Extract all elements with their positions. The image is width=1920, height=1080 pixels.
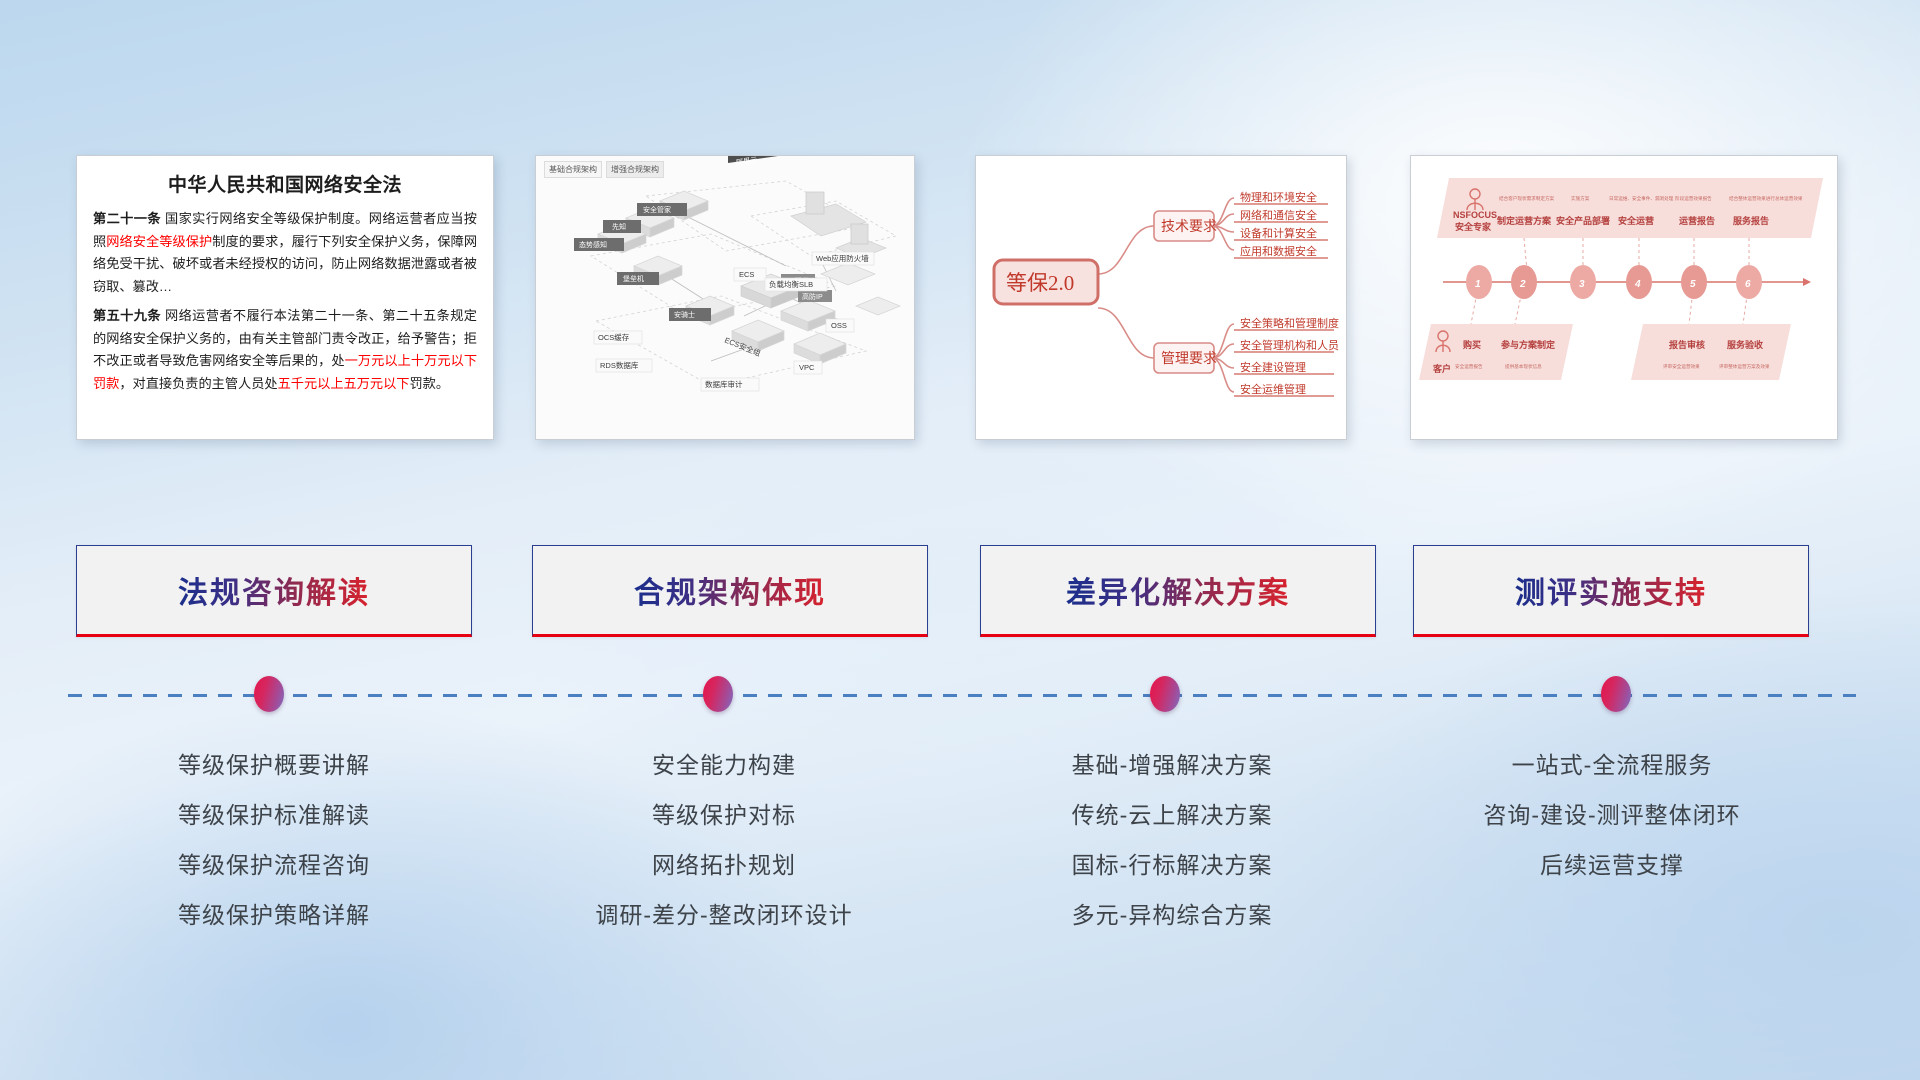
step-num-5: 5: [1690, 279, 1696, 290]
timeline-marker-2[interactable]: [703, 676, 733, 712]
bottom-title-4: 服务验收: [1727, 339, 1763, 350]
bottom-sub-1: 安全运营报告: [1455, 363, 1483, 370]
mindmap-leaf-construction: 安全建设管理: [1240, 360, 1306, 374]
step-num-3: 3: [1579, 279, 1585, 290]
list-item: 调研-差分-整改闭环设计: [504, 890, 944, 940]
article-21-label: 第二十一条: [93, 211, 161, 226]
card-compliance-architecture[interactable]: 基础合规架构 增强合规架构: [535, 155, 915, 440]
timeline-arrow: [1803, 278, 1811, 286]
timeline-marker-1[interactable]: [254, 676, 284, 712]
section-items-3: 基础-增强解决方案 传统-云上解决方案 国标-行标解决方案 多元-异构综合方案: [952, 740, 1392, 940]
step-title-2: 制定运营方案: [1497, 215, 1552, 226]
list-item: 国标-行标解决方案: [952, 840, 1392, 890]
step-title-4: 安全运营: [1618, 215, 1654, 226]
list-item: 等级保护概要讲解: [54, 740, 494, 790]
article-59-text-3: 罚款。: [410, 376, 450, 391]
arch-node-rds: RDS数据库: [600, 360, 639, 370]
arch-node-ecs: ECS: [739, 270, 754, 279]
section-title-box-2[interactable]: 合规架构体现: [532, 545, 928, 637]
section-title-label-1: 法规咨询解读: [178, 568, 370, 612]
section-items-4: 一站式-全流程服务 咨询-建设-测评整体闭环 后续运营支撑: [1392, 740, 1832, 890]
bottom-sub-4: 评审整体运营方案及效果: [1719, 363, 1770, 370]
timeline-marker-3[interactable]: [1150, 676, 1180, 712]
list-item: 等级保护策略详解: [54, 890, 494, 940]
step-sub-6: 结合整体运营效果进行总体运营效果: [1729, 195, 1803, 202]
mindmap-leaf-physical: 物理和环境安全: [1240, 190, 1317, 204]
list-item: 网络拓扑规划: [504, 840, 944, 890]
bottom-title-2: 参与方案制定: [1501, 339, 1556, 350]
list-item: 传统-云上解决方案: [952, 790, 1392, 840]
timeline-top-banner: [1437, 178, 1823, 238]
section-title-box-1[interactable]: 法规咨询解读: [76, 545, 472, 637]
step-title-3: 安全产品部署: [1556, 215, 1610, 226]
timeline-marker-4[interactable]: [1601, 676, 1631, 712]
mindmap-diagram: 等保2.0 技术要求 管理要求 物理和环境安全 网络和通信安全 设备和计算安全 …: [976, 156, 1346, 439]
mindmap-leaf-application: 应用和数据安全: [1240, 244, 1317, 258]
mindmap-leaf-network: 网络和通信安全: [1240, 208, 1317, 222]
step-title-6: 服务报告: [1733, 215, 1769, 226]
timeline-dashed-axis: [68, 694, 1856, 697]
expert-label-line1: NSFOCUS: [1453, 210, 1497, 220]
timeline-bottom-banner-right: [1631, 324, 1791, 380]
mindmap-branch-tech-label: 技术要求: [1161, 219, 1217, 235]
arch-node-db-audit: 数据库审计: [705, 379, 743, 389]
section-items-row: 等级保护概要讲解 等级保护标准解读 等级保护流程咨询 等级保护策略详解 安全能力…: [0, 740, 1920, 960]
step-num-6: 6: [1745, 279, 1751, 290]
step-title-5: 运营报告: [1679, 215, 1715, 226]
expert-label-line2: 安全专家: [1455, 221, 1492, 232]
arch-node-waf: Web应用防火墙: [816, 253, 869, 263]
article-59-highlight-2: 五千元以上五万元以下: [278, 376, 410, 391]
list-item: 多元-异构综合方案: [952, 890, 1392, 940]
step-sub-5: 阶段运营效果报告: [1675, 195, 1712, 202]
list-item: 一站式-全流程服务: [1392, 740, 1832, 790]
arch-node-oss: OSS: [831, 321, 847, 330]
section-items-2: 安全能力构建 等级保护对标 网络拓扑规划 调研-差分-整改闭环设计: [504, 740, 944, 940]
arch-node-gaofang-ip: 高防IP: [802, 292, 823, 301]
arch-node-situation-awareness: 态势感知: [579, 240, 607, 249]
list-item: 安全能力构建: [504, 740, 944, 790]
list-item: 后续运营支撑: [1392, 840, 1832, 890]
section-title-row: 法规咨询解读 合规架构体现 差异化解决方案 测评实施支持: [0, 545, 1920, 645]
timeline-svg: 1 2 3 4 5 6 NSFOCUS 安全专家 制定运营方案 安全产品部署 安…: [1411, 156, 1838, 440]
customer-label: 客户: [1432, 363, 1451, 374]
mindmap-leaf-operations: 安全运维管理: [1240, 382, 1306, 396]
step-sub-4: 日常运维、安全事件、漏洞处理: [1609, 195, 1674, 202]
list-item: 等级保护对标: [504, 790, 944, 840]
mindmap-svg: 等保2.0 技术要求 管理要求 物理和环境安全 网络和通信安全 设备和计算安全 …: [976, 156, 1347, 440]
step-num-1: 1: [1475, 279, 1481, 290]
mindmap-leaf-policy: 安全策略和管理制度: [1240, 316, 1339, 330]
arch-node-vpc: VPC: [799, 363, 815, 372]
section-title-box-4[interactable]: 测评实施支持: [1413, 545, 1809, 637]
bottom-title-3: 报告审核: [1669, 339, 1705, 350]
section-title-label-3: 差异化解决方案: [1066, 568, 1290, 612]
list-item: 等级保护标准解读: [54, 790, 494, 840]
bottom-sub-3: 评审安全运营效果: [1663, 363, 1700, 370]
section-title-label-2: 合规架构体现: [634, 568, 826, 612]
arch-node-anqishi: 安骑士: [674, 310, 695, 319]
card-mindmap-dengbao[interactable]: 等保2.0 技术要求 管理要求 物理和环境安全 网络和通信安全 设备和计算安全 …: [975, 155, 1347, 440]
arch-node-slb: 负载均衡SLB: [769, 279, 813, 289]
step-num-2: 2: [1519, 279, 1526, 290]
arch-node-ocs: OCS缓存: [598, 332, 630, 342]
arch-node-security-butler: 安全管家: [643, 205, 671, 214]
article-21-highlight: 网络安全等级保护: [106, 234, 212, 249]
law-title: 中华人民共和国网络安全法: [93, 170, 477, 197]
step-num-4: 4: [1634, 279, 1641, 290]
mindmap-leaf-org: 安全管理机构和人员: [1240, 338, 1339, 352]
section-title-box-3[interactable]: 差异化解决方案: [980, 545, 1376, 637]
section-items-1: 等级保护概要讲解 等级保护标准解读 等级保护流程咨询 等级保护策略详解: [54, 740, 494, 940]
bottom-title-1: 购买: [1463, 339, 1481, 350]
list-item: 基础-增强解决方案: [952, 740, 1392, 790]
list-item: 等级保护流程咨询: [54, 840, 494, 890]
article-59-text-2: ，对直接负责的主管人员处: [119, 376, 277, 391]
section-title-label-4: 测评实施支持: [1515, 568, 1707, 612]
law-document: 中华人民共和国网络安全法 第二十一条 国家实行网络安全等级保护制度。网络运营者应…: [77, 156, 493, 404]
card-cybersecurity-law[interactable]: 中华人民共和国网络安全法 第二十一条 国家实行网络安全等级保护制度。网络运营者应…: [76, 155, 494, 440]
step-sub-3: 实施方案: [1571, 195, 1590, 202]
timeline-diagram: 1 2 3 4 5 6 NSFOCUS 安全专家 制定运营方案 安全产品部署 安…: [1411, 156, 1837, 439]
arch-node-xianzhi: 先知: [612, 222, 626, 231]
mindmap-leaf-device: 设备和计算安全: [1240, 226, 1317, 240]
list-item: 咨询-建设-测评整体闭环: [1392, 790, 1832, 840]
step-sub-2: 结合客户现状需求制定方案: [1499, 195, 1555, 202]
bottom-sub-2: 提供基本现状信息: [1505, 363, 1542, 370]
card-nsfocus-timeline[interactable]: 1 2 3 4 5 6 NSFOCUS 安全专家 制定运营方案 安全产品部署 安…: [1410, 155, 1838, 440]
architecture-diagram: 基础合规架构 增强合规架构: [536, 156, 914, 439]
mindmap-root-label: 等保2.0: [1006, 271, 1074, 295]
arch-node-bastion: 堡垒机: [623, 274, 644, 283]
preview-cards-row: 中华人民共和国网络安全法 第二十一条 国家实行网络安全等级保护制度。网络运营者应…: [0, 0, 1920, 450]
law-article-21: 第二十一条 国家实行网络安全等级保护制度。网络运营者应当按照网络安全等级保护制度…: [93, 208, 477, 299]
architecture-svg: 阿里云 安全管家 先知 态势感知 堡垒机 安骑士 CA证书 高防IP ECS: [536, 156, 915, 440]
mindmap-branch-mgmt-label: 管理要求: [1161, 351, 1217, 367]
law-article-59: 第五十九条 网络运营者不履行本法第二十一条、第二十五条规定的网络安全保护义务的，…: [93, 305, 477, 396]
article-59-label: 第五十九条: [93, 308, 161, 323]
